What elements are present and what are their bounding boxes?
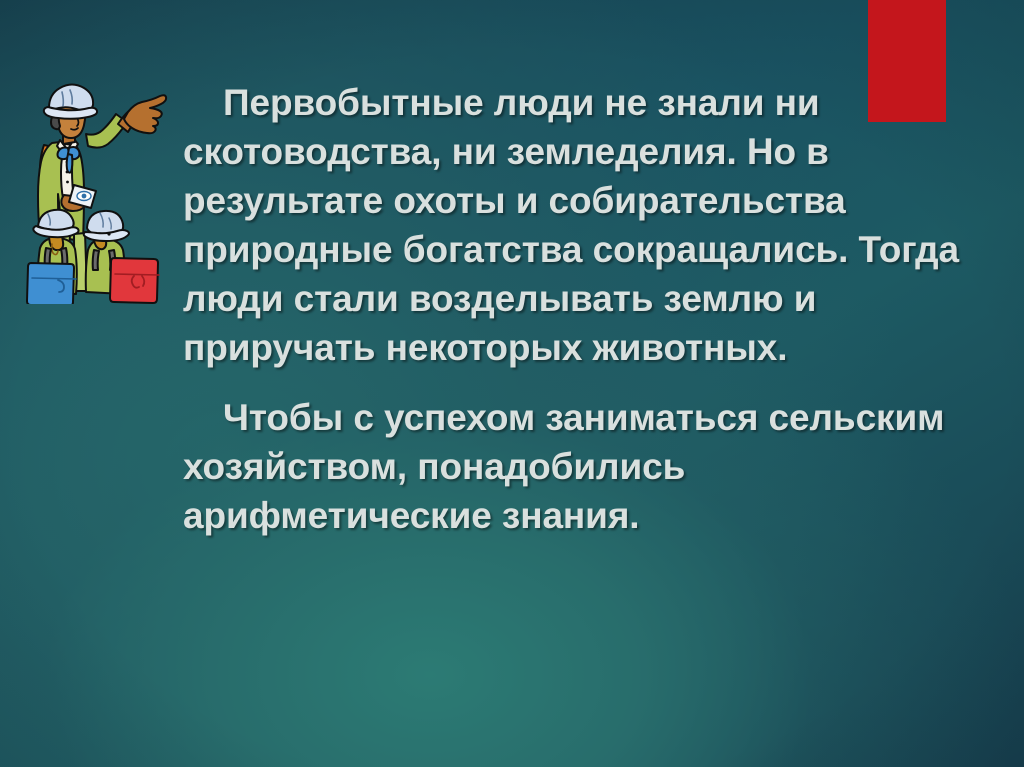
presentation-slide: Первобытные люди не знали ни скотоводств… [0,0,1024,767]
paragraph-1: Первобытные люди не знали ни скотоводств… [183,78,973,372]
guide-with-children-illustration [22,82,172,304]
slide-text-block: Первобытные люди не знали ни скотоводств… [183,78,973,540]
paragraph-2: Чтобы с успехом заниматься сельским хозя… [183,393,973,540]
